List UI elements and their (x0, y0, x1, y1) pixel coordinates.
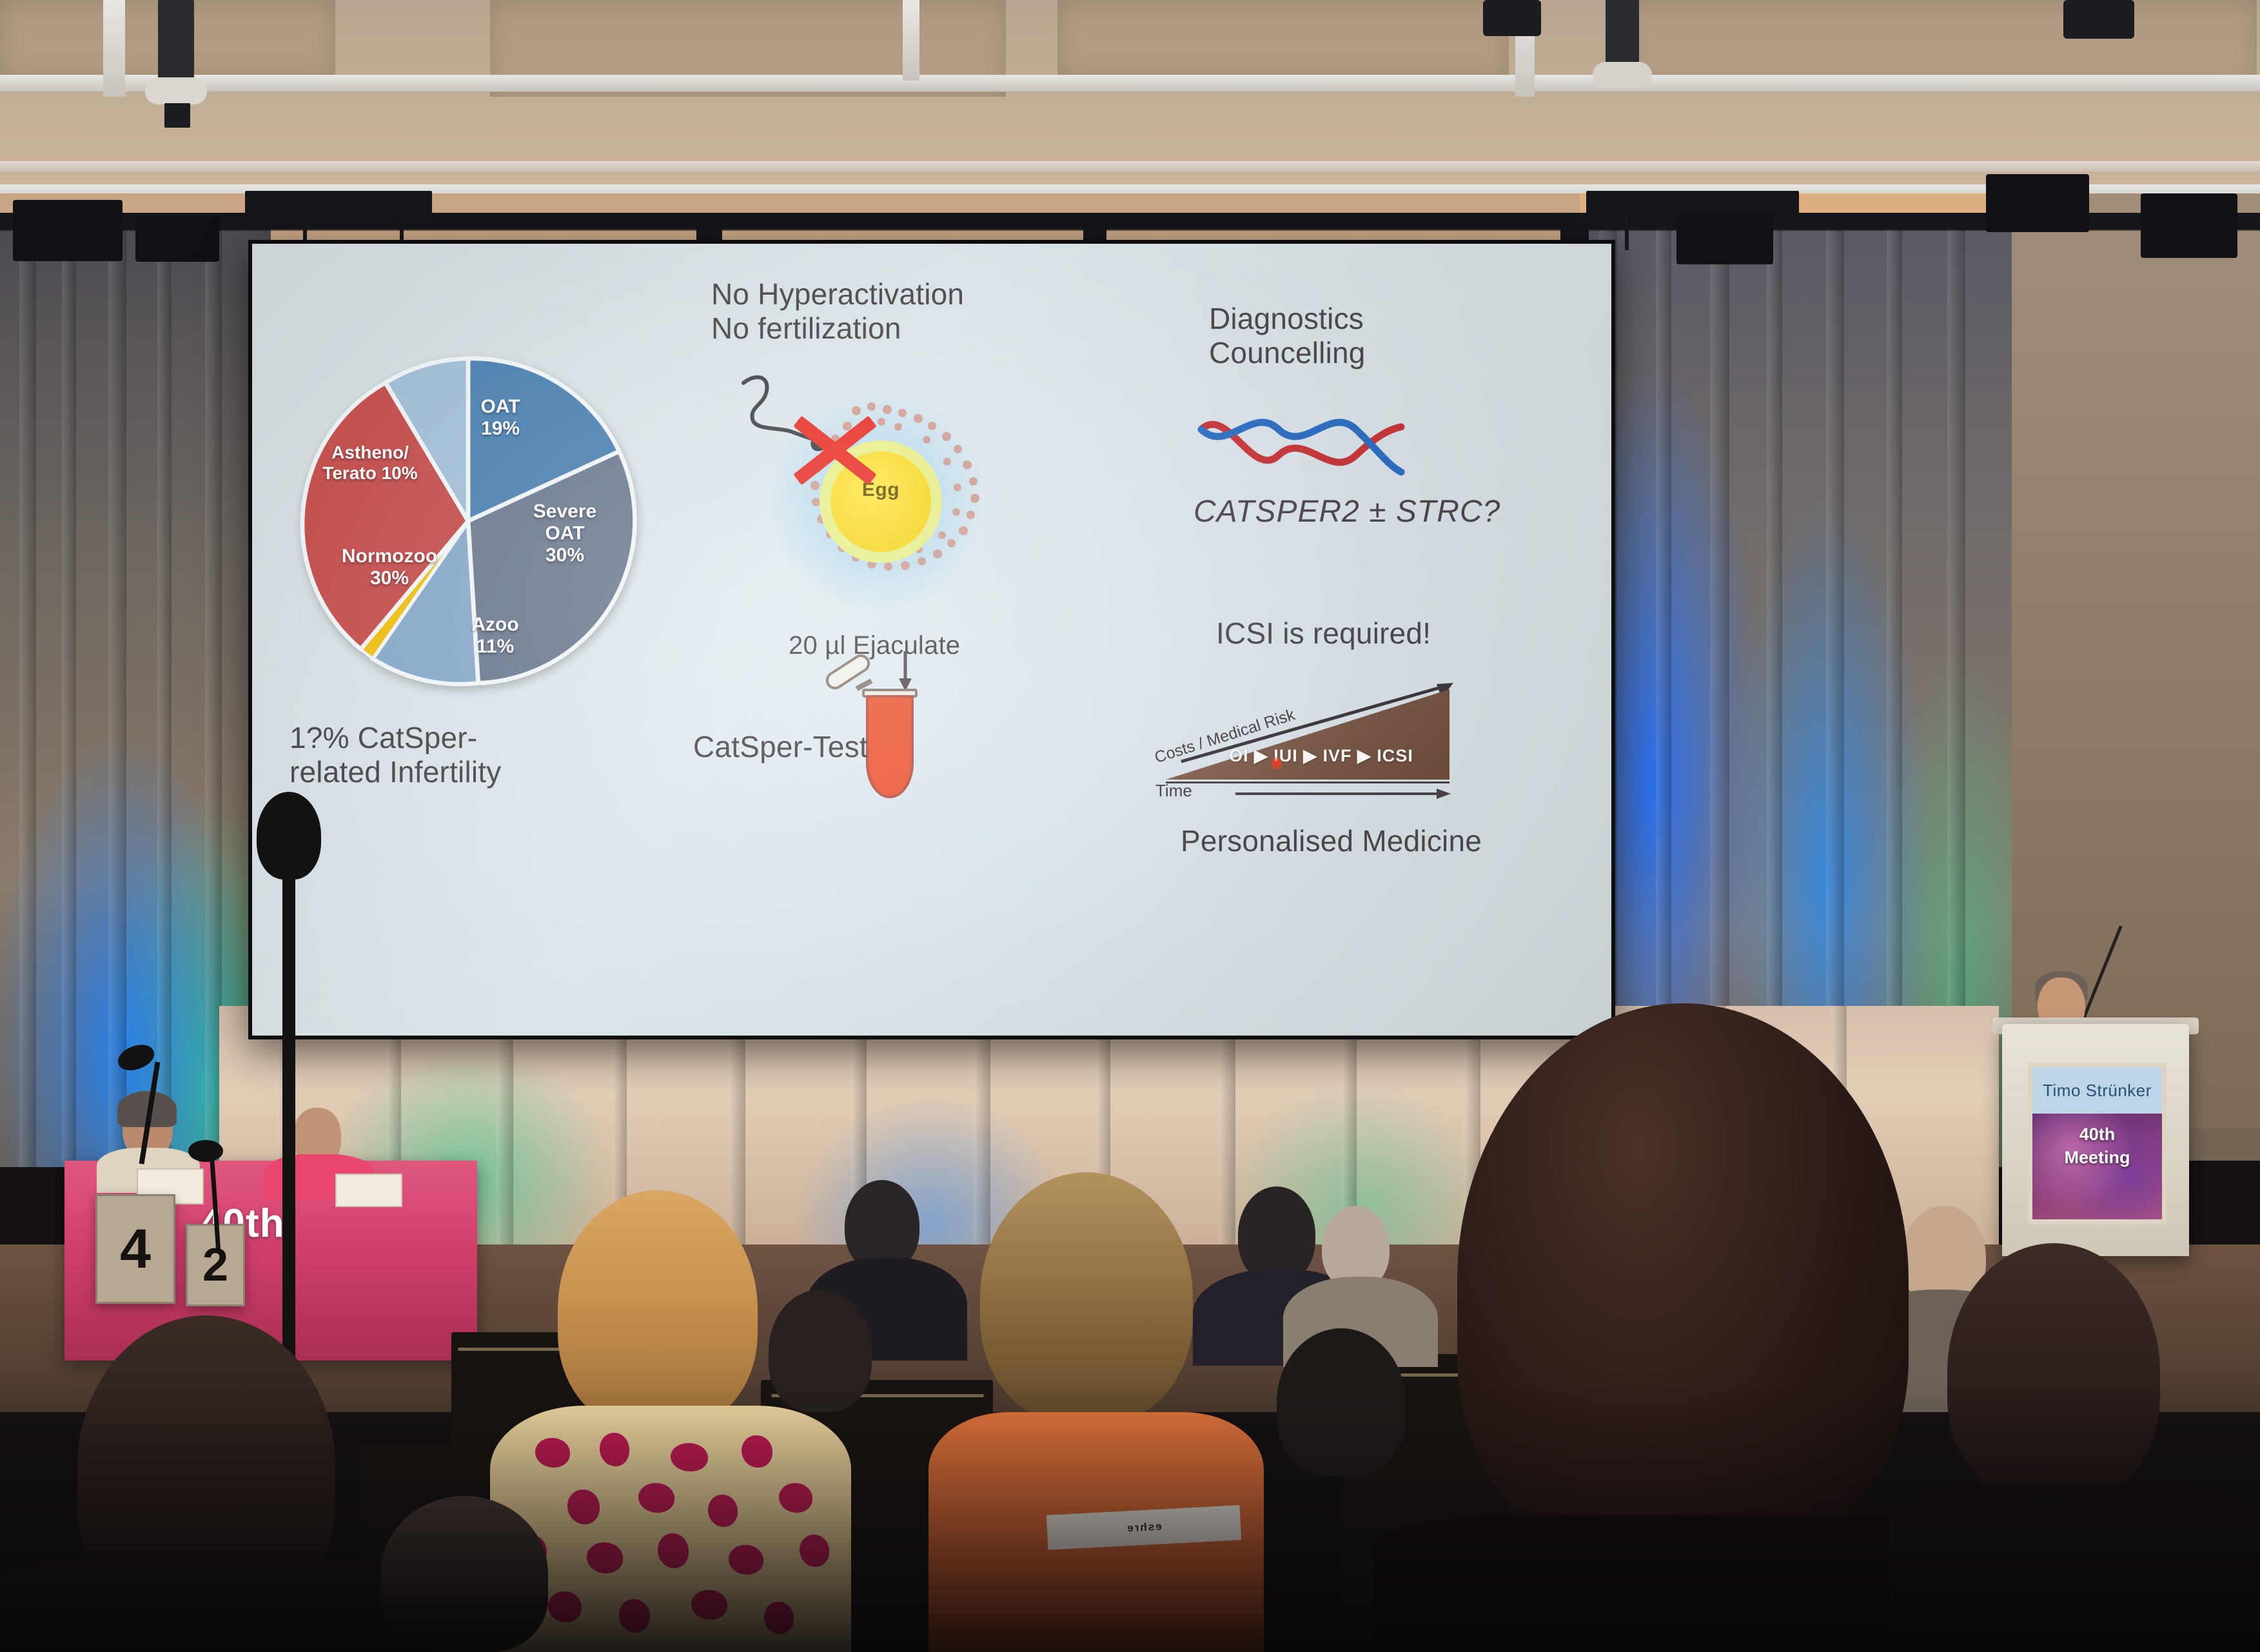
ceiling-light-icon (1483, 0, 1541, 36)
audience-head-foreground-right (1457, 1003, 1909, 1558)
seat-number-marker-4: 4 (95, 1194, 175, 1304)
tube-body (866, 695, 914, 798)
podium-name-band: Timo Strünker (2032, 1067, 2162, 1114)
pie-chart-svg (288, 340, 649, 702)
stage-light-icon (2141, 193, 2237, 258)
stage-light-icon (1986, 174, 2089, 232)
pie-chart: OAT 19% Severe OAT 30% Azoo 11% Normozoo… (288, 340, 649, 702)
egg-sperm-diagram: Egg (729, 366, 1032, 644)
presentation-slide: OAT 19% Severe OAT 30% Azoo 11% Normozoo… (252, 244, 1611, 1036)
side-wall-right (1986, 193, 2260, 1161)
audience-head (1277, 1328, 1406, 1477)
audience-head (769, 1290, 872, 1412)
boom-microphone-icon (257, 792, 321, 880)
personalised-medicine-footer: Personalised Medicine (1181, 824, 1482, 858)
microphone-stand (282, 872, 295, 1362)
ceiling-light-icon (2063, 0, 2134, 39)
ceiling (0, 0, 2260, 213)
projection-screen: OAT 19% Severe OAT 30% Azoo 11% Normozoo… (248, 240, 1615, 1039)
audience-head-right (1947, 1243, 2160, 1501)
stage-light-icon (13, 200, 123, 261)
laser-pointer-dot (1272, 756, 1282, 771)
audience-head-curly (980, 1172, 1193, 1424)
time-axis-label: Time (1155, 781, 1192, 801)
panelist-name-card-2 (335, 1174, 402, 1207)
diagnostics-counselling-headline: Diagnostics Councelling (1209, 302, 1366, 371)
catsper-test-label: CatSper-Test (693, 730, 868, 764)
table-microphone-icon-2 (188, 1140, 223, 1162)
audience-torso-right (1889, 1483, 2260, 1652)
audience-head-blonde (558, 1190, 758, 1429)
egg-label: Egg (830, 479, 931, 501)
icsi-required-statement: ICSI is required! (1216, 616, 1431, 651)
podium-meeting-text: 40th Meeting (2032, 1123, 2162, 1170)
audience-head-mid-left (380, 1496, 548, 1652)
dna-helix-icon (1195, 410, 1408, 487)
down-arrow-icon (896, 650, 915, 693)
conference-room-scene: OAT 19% Severe OAT 30% Azoo 11% Normozoo… (0, 0, 2260, 1652)
stage-light-icon (1676, 213, 1773, 264)
treatment-sequence-label: OI ▶ IUI ▶ IVF ▶ ICSI (1229, 746, 1461, 766)
time-arrow-icon (1235, 786, 1455, 803)
stage-light-icon (135, 217, 219, 262)
gene-label: CATSPER2 ± STRC? (1194, 494, 1500, 530)
speaker-name: Timo Strünker (2043, 1081, 2152, 1101)
no-fertilization-headline: No Hyperactivation No fertilization (711, 277, 964, 346)
treatment-escalation-diagram: Costs / Medical Risk OI ▶ IUI ▶ IVF ▶ IC… (1152, 679, 1468, 801)
catsper-infertility-caption: 1?% CatSper- related Infertility (290, 721, 502, 790)
podium-name-sign: Timo Strünker 40th Meeting (2028, 1063, 2167, 1224)
